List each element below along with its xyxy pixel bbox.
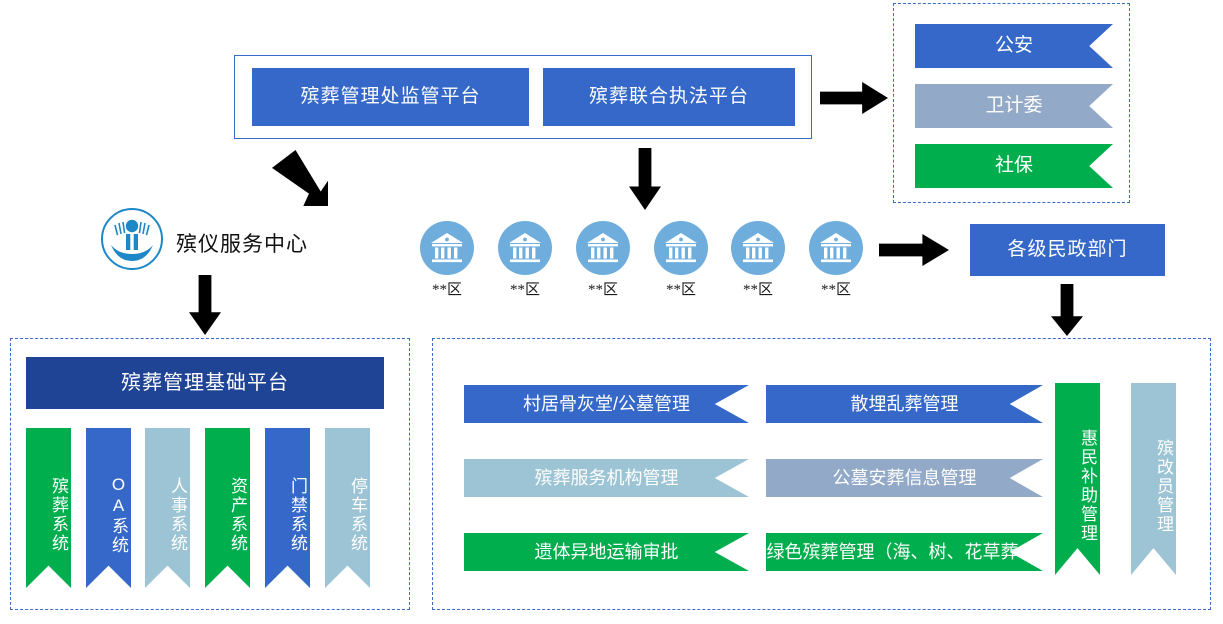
district-label-1: **区: [420, 278, 474, 299]
business-ribbon-service-org[interactable]: 殡葬服务机构管理: [464, 459, 749, 497]
arrow-service-center-to-base-platform: [189, 275, 221, 335]
business-ribbon-village-ossuary-label: 村居骨灰堂/公墓管理: [523, 394, 690, 415]
platform-box-supervision[interactable]: 殡葬管理处监管平台: [252, 68, 529, 126]
district-icon-1[interactable]: [420, 221, 474, 275]
department-ribbon-social-security[interactable]: 社保: [915, 144, 1113, 188]
business-ribbon-cemetery-info-label: 公墓安葬信息管理: [833, 468, 977, 489]
service-center-label: 殡仪服务中心: [176, 228, 308, 258]
civil-affairs-box[interactable]: 各级民政部门: [970, 224, 1165, 276]
district-label-6: **区: [809, 278, 863, 299]
platform-box-supervision-label: 殡葬管理处监管平台: [300, 86, 480, 109]
department-ribbon-health-commission-label: 卫计委: [985, 95, 1042, 117]
district-icon-2[interactable]: [498, 221, 552, 275]
system-ribbon-hr-label: 人事系统: [165, 477, 190, 553]
business-ribbon-benefit-subsidy[interactable]: 惠民补助管理: [1055, 383, 1100, 575]
business-ribbon-green-funeral-label: 绿色殡葬管理（海、树、花草葬: [767, 542, 1019, 563]
business-ribbon-green-funeral[interactable]: 绿色殡葬管理（海、树、花草葬: [766, 533, 1043, 571]
business-ribbon-scattered-burial[interactable]: 散埋乱葬管理: [766, 385, 1043, 423]
business-ribbon-village-ossuary[interactable]: 村居骨灰堂/公墓管理: [464, 385, 749, 423]
system-ribbon-funeral[interactable]: 殡葬系统: [26, 428, 71, 588]
diagram-canvas: 殡葬管理处监管平台 殡葬联合执法平台 公安 卫计委 社保: [0, 0, 1223, 624]
department-ribbon-health-commission[interactable]: 卫计委: [915, 84, 1113, 128]
district-label-3: **区: [576, 278, 630, 299]
platform-box-joint-enforcement-label: 殡葬联合执法平台: [589, 86, 749, 109]
system-ribbon-hr[interactable]: 人事系统: [145, 428, 190, 588]
district-label-2: **区: [498, 278, 552, 299]
district-icon-5[interactable]: [731, 221, 785, 275]
district-icon-3[interactable]: [576, 221, 630, 275]
funeral-service-center-logo-icon: [101, 208, 163, 270]
district-label-5: **区: [731, 278, 785, 299]
business-ribbon-scattered-burial-label: 散埋乱葬管理: [851, 394, 959, 415]
business-ribbon-reform-officer[interactable]: 殡改员管理: [1131, 383, 1176, 575]
arrow-districts-to-civil-affairs: [879, 234, 949, 266]
system-ribbon-parking-label: 停车系统: [345, 477, 370, 553]
system-ribbon-funeral-label: 殡葬系统: [46, 477, 71, 553]
district-icon-4[interactable]: [654, 221, 708, 275]
system-ribbon-oa-label: OA系统: [106, 475, 131, 555]
department-ribbon-social-security-label: 社保: [995, 155, 1033, 177]
system-ribbon-access-control-label: 门禁系统: [285, 477, 310, 553]
business-ribbon-remains-transport[interactable]: 遗体异地运输审批: [464, 533, 749, 571]
system-ribbon-assets[interactable]: 资产系统: [205, 428, 250, 588]
district-icon-6[interactable]: [809, 221, 863, 275]
department-ribbon-public-security[interactable]: 公安: [915, 24, 1113, 68]
arrow-civil-affairs-to-business-panel: [1051, 284, 1083, 336]
business-ribbon-reform-officer-label: 殡改员管理: [1151, 439, 1176, 534]
system-ribbon-assets-label: 资产系统: [225, 477, 250, 553]
base-platform-title-bar[interactable]: 殡葬管理基础平台: [26, 357, 384, 409]
base-platform-title-label: 殡葬管理基础平台: [121, 371, 289, 395]
district-label-4: **区: [654, 278, 708, 299]
business-ribbon-cemetery-info[interactable]: 公墓安葬信息管理: [766, 459, 1043, 497]
business-ribbon-service-org-label: 殡葬服务机构管理: [535, 468, 679, 489]
arrow-platforms-to-districts: [629, 148, 661, 210]
system-ribbon-parking[interactable]: 停车系统: [325, 428, 370, 588]
system-ribbon-access-control[interactable]: 门禁系统: [265, 428, 310, 588]
business-ribbon-benefit-subsidy-label: 惠民补助管理: [1075, 429, 1100, 543]
platform-box-joint-enforcement[interactable]: 殡葬联合执法平台: [543, 68, 795, 126]
business-ribbon-remains-transport-label: 遗体异地运输审批: [535, 542, 679, 563]
arrow-platforms-to-departments: [820, 82, 888, 114]
department-ribbon-public-security-label: 公安: [995, 35, 1033, 57]
civil-affairs-label: 各级民政部门: [1007, 239, 1127, 262]
arrow-platforms-to-service-center: [272, 150, 328, 206]
system-ribbon-oa[interactable]: OA系统: [86, 428, 131, 588]
